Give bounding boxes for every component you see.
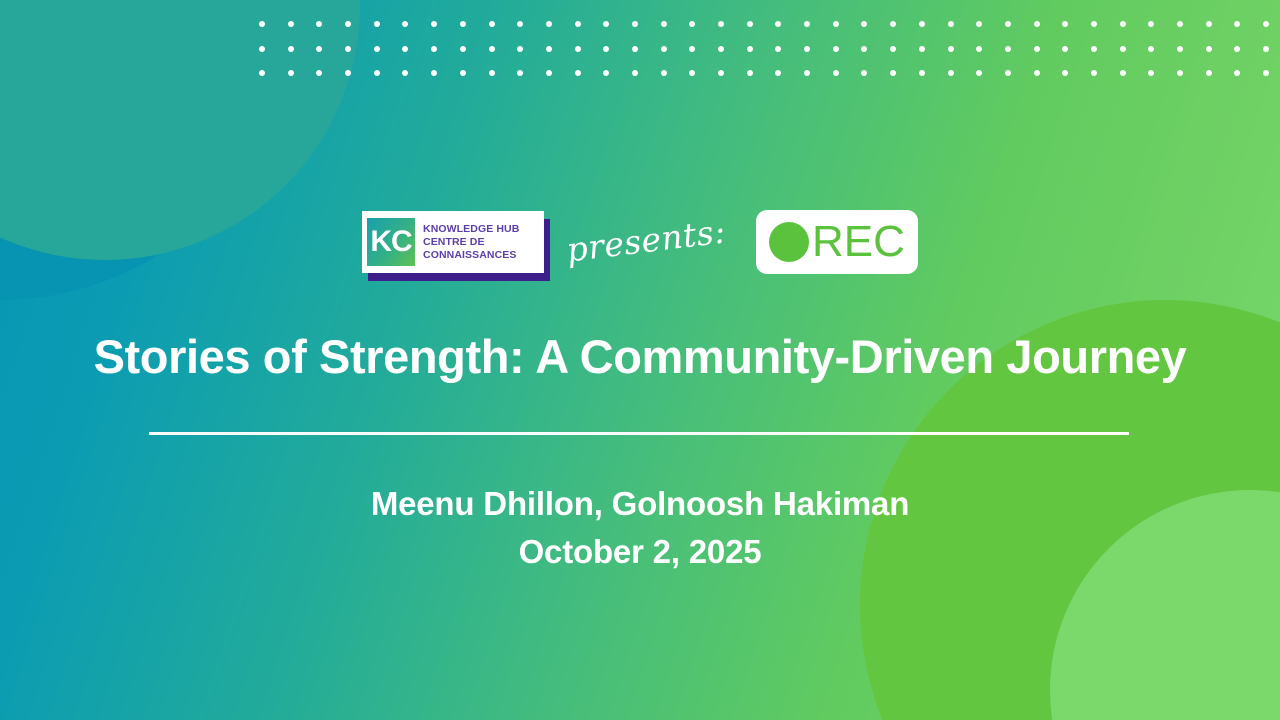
decor-dot (546, 21, 552, 27)
decor-dot (316, 46, 322, 52)
decor-dot (316, 21, 322, 27)
decor-dot (402, 46, 408, 52)
decor-dot (1091, 70, 1097, 76)
decor-dot (603, 21, 609, 27)
decor-dot (1005, 70, 1011, 76)
decor-dot (1091, 46, 1097, 52)
decor-dot (1091, 21, 1097, 27)
decor-dot (1148, 70, 1154, 76)
decor-dot (517, 70, 523, 76)
decor-dot (1034, 46, 1040, 52)
decor-dot (1206, 46, 1212, 52)
decor-dot (489, 21, 495, 27)
decor-dot (747, 21, 753, 27)
decor-dot (861, 46, 867, 52)
decor-dot (632, 46, 638, 52)
decor-dot (402, 21, 408, 27)
decor-dot (890, 70, 896, 76)
decor-dot (1263, 21, 1269, 27)
rec-logo: REC (756, 210, 918, 274)
knowledge-hub-wordmark-line3: CONNAISSANCES (423, 249, 519, 262)
decor-dot (948, 70, 954, 76)
decor-dot (402, 70, 408, 76)
decor-dot (1062, 70, 1068, 76)
decor-dot (259, 46, 265, 52)
presentation-slide: KC KNOWLEDGE HUB CENTRE DE CONNAISSANCES… (0, 0, 1280, 720)
decor-dot (804, 46, 810, 52)
decor-dot-grid (259, 12, 1264, 74)
decor-dot (1234, 70, 1240, 76)
decor-dot (1206, 70, 1212, 76)
decor-dot (345, 46, 351, 52)
decor-dot (345, 70, 351, 76)
decor-dot (775, 70, 781, 76)
knowledge-hub-wordmark-line2: CENTRE DE (423, 236, 519, 249)
decor-dot (632, 70, 638, 76)
decor-dot (1234, 46, 1240, 52)
decor-dot (1062, 21, 1068, 27)
decor-dot (575, 70, 581, 76)
decor-dot (603, 46, 609, 52)
decor-dot (1034, 70, 1040, 76)
decor-dot (316, 70, 322, 76)
decor-dot (603, 70, 609, 76)
decor-dot (976, 46, 982, 52)
decor-dot (948, 46, 954, 52)
decor-dot (1177, 46, 1183, 52)
decor-dot (976, 70, 982, 76)
decor-dot (919, 21, 925, 27)
decor-dot (861, 21, 867, 27)
decor-dot (431, 46, 437, 52)
decor-dot (1005, 21, 1011, 27)
decor-dot (1062, 46, 1068, 52)
decor-dot (775, 46, 781, 52)
decor-dot (890, 46, 896, 52)
decor-dot (775, 21, 781, 27)
decor-dot (460, 21, 466, 27)
presents-script-text: presents: (564, 211, 728, 269)
decor-dot-row (259, 61, 1264, 86)
decor-dot (1148, 21, 1154, 27)
decor-dot (833, 46, 839, 52)
knowledge-hub-logo-card: KC KNOWLEDGE HUB CENTRE DE CONNAISSANCES (362, 211, 544, 273)
decor-dot (747, 46, 753, 52)
decor-dot (632, 21, 638, 27)
decor-dot (1177, 21, 1183, 27)
decor-dot (661, 70, 667, 76)
decor-dot (546, 70, 552, 76)
decor-dot (919, 70, 925, 76)
decor-dot (1005, 46, 1011, 52)
decor-dot (747, 70, 753, 76)
decor-dot (976, 21, 982, 27)
decor-dot (890, 21, 896, 27)
decor-dot (259, 21, 265, 27)
decor-dot (1034, 21, 1040, 27)
decor-dot (288, 70, 294, 76)
title-divider (149, 432, 1129, 435)
decor-dot (804, 70, 810, 76)
decor-dot-row (259, 12, 1264, 37)
decor-dot (1120, 21, 1126, 27)
presentation-date: October 2, 2025 (0, 526, 1280, 578)
slide-title: Stories of Strength: A Community-Driven … (0, 327, 1280, 387)
decor-dot (431, 70, 437, 76)
decor-dot (804, 21, 810, 27)
decor-dot (1120, 46, 1126, 52)
knowledge-hub-wordmark: KNOWLEDGE HUB CENTRE DE CONNAISSANCES (423, 223, 519, 262)
knowledge-hub-wordmark-line1: KNOWLEDGE HUB (423, 223, 519, 236)
decor-dot (460, 46, 466, 52)
presenter-names: Meenu Dhillon, Golnoosh Hakiman (0, 481, 1280, 526)
decor-dot (489, 70, 495, 76)
decor-dot (718, 70, 724, 76)
decor-dot (689, 46, 695, 52)
decor-dot (948, 21, 954, 27)
decor-dot (1263, 70, 1269, 76)
decor-dot (374, 21, 380, 27)
decor-dot (1206, 21, 1212, 27)
presenter-block: Meenu Dhillon, Golnoosh Hakiman October … (0, 481, 1280, 578)
kc-monogram: KC (367, 218, 415, 266)
record-dot-icon (769, 222, 809, 262)
decor-dot (833, 70, 839, 76)
decor-dot (1120, 70, 1126, 76)
decor-dot (575, 46, 581, 52)
decor-dot (460, 70, 466, 76)
decor-dot (661, 21, 667, 27)
decor-dot (575, 21, 581, 27)
decor-dot (517, 46, 523, 52)
decor-dot (489, 46, 495, 52)
decor-dot (1234, 21, 1240, 27)
decor-dot (517, 21, 523, 27)
decor-dot (689, 70, 695, 76)
decor-dot (374, 46, 380, 52)
decor-dot (259, 70, 265, 76)
knowledge-hub-logo: KC KNOWLEDGE HUB CENTRE DE CONNAISSANCES (362, 211, 544, 273)
rec-wordmark: REC (812, 220, 905, 264)
decor-dot-row (259, 37, 1264, 62)
decor-dot (1263, 46, 1269, 52)
decor-dot (718, 21, 724, 27)
decor-dot (661, 46, 667, 52)
decor-dot (374, 70, 380, 76)
logo-strip: KC KNOWLEDGE HUB CENTRE DE CONNAISSANCES… (0, 196, 1280, 288)
decor-dot (546, 46, 552, 52)
decor-dot (718, 46, 724, 52)
decor-dot (1148, 46, 1154, 52)
decor-dot (345, 21, 351, 27)
decor-dot (833, 21, 839, 27)
decor-dot (1177, 70, 1183, 76)
decor-dot (431, 21, 437, 27)
decor-dot (288, 21, 294, 27)
decor-dot (861, 70, 867, 76)
decor-dot (919, 46, 925, 52)
decor-dot (689, 21, 695, 27)
decor-dot (288, 46, 294, 52)
